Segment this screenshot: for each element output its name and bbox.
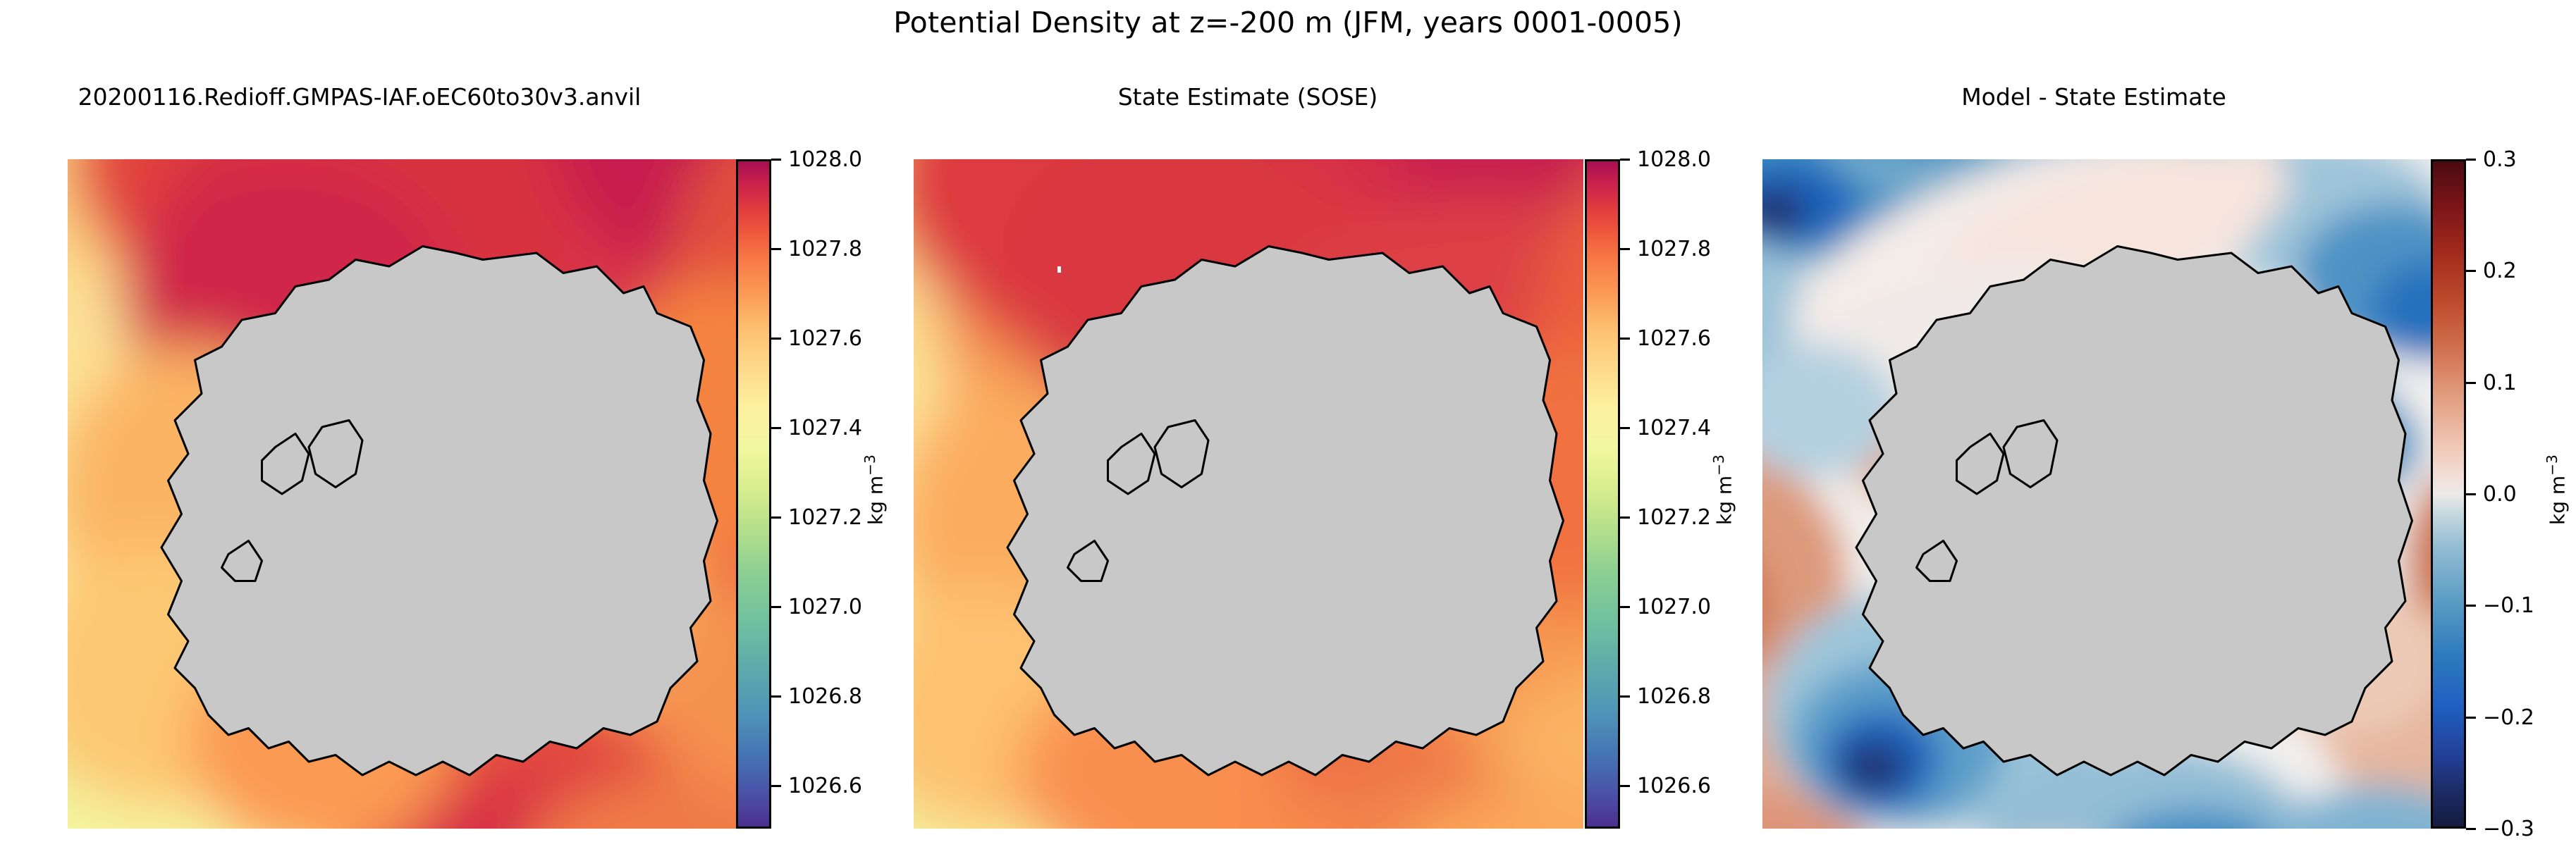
units-exponent: −3 bbox=[2544, 454, 2560, 476]
difference-field bbox=[1762, 159, 2432, 829]
tick-dash bbox=[1620, 516, 1630, 519]
tick-dash bbox=[2466, 493, 2476, 495]
tick-label: 1027.4 bbox=[1637, 418, 1711, 439]
tick-dash bbox=[771, 248, 781, 250]
tick-label: 0.2 bbox=[2483, 261, 2517, 282]
tick-label: 1027.8 bbox=[1637, 239, 1711, 260]
density-raster-model bbox=[68, 159, 737, 829]
tick-label: 1027.8 bbox=[788, 239, 862, 260]
tick-dash bbox=[1620, 427, 1630, 429]
tick-label: 1027.4 bbox=[788, 418, 862, 439]
figure-suptitle: Potential Density at z=-200 m (JFM, year… bbox=[0, 6, 2576, 39]
map-panel-model[interactable] bbox=[68, 159, 737, 829]
tick-dash bbox=[771, 695, 781, 698]
tick-dash bbox=[1620, 248, 1630, 250]
tick-label: 1026.8 bbox=[788, 686, 862, 707]
tick-dash bbox=[771, 338, 781, 340]
figure-canvas: Potential Density at z=-200 m (JFM, year… bbox=[0, 0, 2576, 854]
tick-dash bbox=[2466, 382, 2476, 384]
tick-dash bbox=[1620, 606, 1630, 608]
tick-label: −0.3 bbox=[2483, 819, 2534, 840]
tick-label: 1027.0 bbox=[788, 597, 862, 618]
tick-dash bbox=[1620, 785, 1630, 787]
density-field-state-estimate bbox=[914, 159, 1583, 829]
tick-label: 1027.6 bbox=[1637, 328, 1711, 349]
difference-raster bbox=[1762, 159, 2432, 829]
colorbar-units-model: kg m−3 bbox=[861, 454, 887, 525]
colorbar-state-estimate[interactable] bbox=[1585, 159, 1620, 829]
colorbar-model[interactable] bbox=[736, 159, 771, 829]
tick-dash bbox=[1620, 338, 1630, 340]
colorbar-units-state-estimate: kg m−3 bbox=[1710, 454, 1736, 525]
tick-label: 1026.6 bbox=[1637, 776, 1711, 797]
map-panel-state-estimate[interactable] bbox=[914, 159, 1583, 829]
panel-title-difference: Model - State Estimate bbox=[1720, 83, 2467, 111]
tick-dash bbox=[771, 159, 781, 161]
tick-dash bbox=[771, 427, 781, 429]
tick-label: 1027.0 bbox=[1637, 597, 1711, 618]
units-text: kg m bbox=[2546, 476, 2569, 525]
tick-dash bbox=[2466, 159, 2476, 161]
tick-label: 1026.8 bbox=[1637, 686, 1711, 707]
panel-title-model: 20200116.Redioff.GMPAS-IAF.oEC60to30v3.a… bbox=[0, 83, 719, 111]
colorbar-ticks-state-estimate: 1028.0 1027.8 1027.6 1027.4 1027.2 1027.… bbox=[1620, 159, 1782, 829]
units-exponent: −3 bbox=[861, 454, 878, 476]
colorbar-difference[interactable] bbox=[2431, 159, 2466, 829]
missing-data-speck bbox=[1239, 437, 1246, 444]
tick-label: 0.3 bbox=[2483, 149, 2517, 171]
tick-dash bbox=[771, 516, 781, 519]
units-exponent: −3 bbox=[1710, 454, 1727, 476]
missing-data-speck bbox=[1057, 266, 1061, 273]
units-text: kg m bbox=[1712, 476, 1736, 525]
tick-dash bbox=[2466, 270, 2476, 272]
tick-label: 1027.6 bbox=[788, 328, 862, 349]
units-text: kg m bbox=[864, 476, 887, 525]
density-raster-state-estimate bbox=[914, 159, 1583, 829]
tick-label: 0.1 bbox=[2483, 373, 2517, 394]
tick-dash bbox=[2466, 828, 2476, 830]
tick-dash bbox=[771, 606, 781, 608]
tick-label: −0.2 bbox=[2483, 707, 2534, 729]
tick-label: 1027.2 bbox=[788, 507, 862, 528]
colorbar-units-difference: kg m−3 bbox=[2544, 454, 2569, 525]
tick-dash bbox=[1620, 695, 1630, 698]
tick-label: 1026.6 bbox=[788, 776, 862, 797]
tick-label: 1027.2 bbox=[1637, 507, 1711, 528]
tick-dash bbox=[2466, 605, 2476, 607]
tick-dash bbox=[1620, 159, 1630, 161]
tick-dash bbox=[771, 785, 781, 787]
colorbar-ticks-model: 1028.0 1027.8 1027.6 1027.4 1027.2 1027.… bbox=[771, 159, 933, 829]
tick-label: 0.0 bbox=[2483, 484, 2517, 505]
tick-label: 1028.0 bbox=[1637, 149, 1711, 171]
tick-label: −0.1 bbox=[2483, 595, 2534, 617]
panel-title-state-estimate: State Estimate (SOSE) bbox=[874, 83, 1621, 111]
tick-label: 1028.0 bbox=[788, 149, 862, 171]
map-panel-difference[interactable] bbox=[1762, 159, 2432, 829]
tick-dash bbox=[2466, 717, 2476, 719]
density-field-model bbox=[68, 159, 737, 829]
